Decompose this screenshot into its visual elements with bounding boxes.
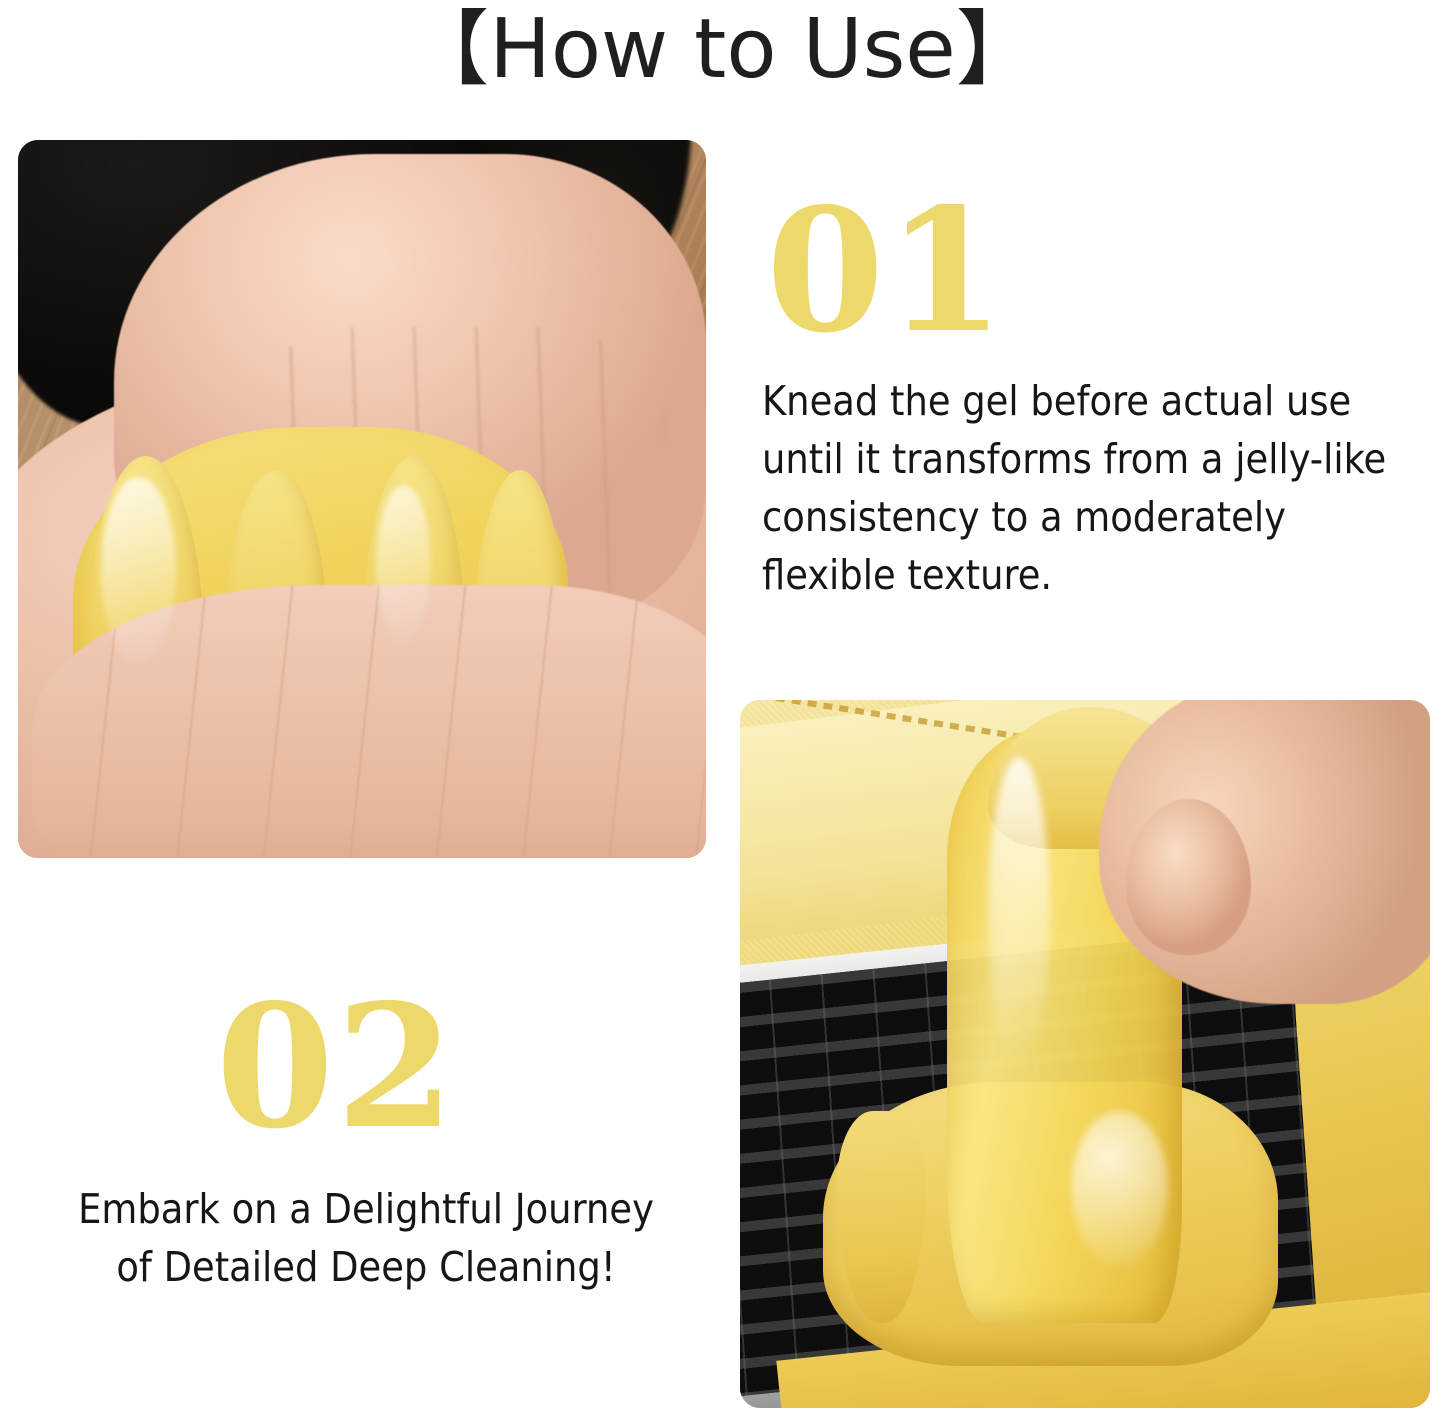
gel-highlight	[376, 485, 431, 643]
step-2-description: Embark on a Delightful Journey of Detail…	[56, 1180, 676, 1296]
step-2-photo	[740, 700, 1430, 1408]
gel-highlight	[1071, 1111, 1168, 1267]
page-title: 【How to Use】	[0, 2, 1445, 98]
gel-highlight	[101, 477, 177, 664]
step-1-photo	[18, 140, 706, 858]
infographic-page: 【How to Use】 01 Knead the gel before act…	[0, 0, 1445, 1422]
thumb	[1126, 799, 1250, 955]
step-1-description: Knead the gel before actual use until it…	[762, 372, 1430, 604]
step-2-number: 02	[0, 982, 672, 1152]
step-1-number: 01	[766, 186, 1007, 356]
